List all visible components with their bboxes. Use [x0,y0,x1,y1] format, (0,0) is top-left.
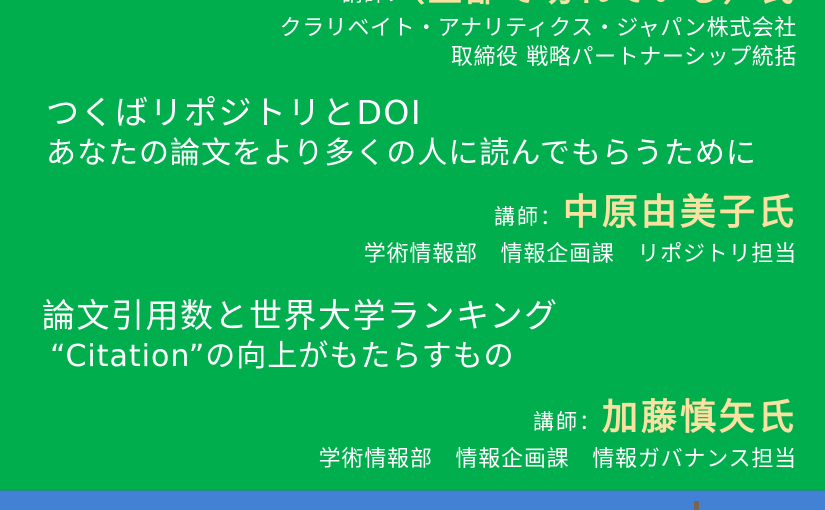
bottom-blue-band [0,491,825,510]
session-2-speaker-name: 加藤慎矢 [602,397,758,438]
poster-slide: 講師：（上部で切れている）氏 クラリベイト・アナリティクス・ジャパン株式会社 取… [0,0,825,510]
session-2-subtitle: “Citation”の向上がもたらすもの [0,336,825,378]
session-block-1: つくばリポジトリとDOI あなたの論文をより多くの人に読んでもらうために 講師：… [0,92,825,269]
top-affiliation-line-1: クラリベイト・アナリティクス・ジャパン株式会社 [37,14,797,43]
session-1-speaker-label: 講師： [494,205,563,229]
top-speaker-block: 講師：（上部で切れている）氏 クラリベイト・アナリティクス・ジャパン株式会社 取… [37,0,797,72]
session-1-affiliation: 学術情報部 情報企画課 リポジトリ担当 [0,241,825,269]
top-affiliation-line-2: 取締役 戦略パートナーシップ統括 [37,43,797,72]
session-2-speaker-suffix: 氏 [758,397,797,438]
session-block-2: 論文引用数と世界大学ランキング “Citation”の向上がもたらすもの 講師：… [0,295,825,474]
top-speaker-name: （上部で切れている） [408,0,760,10]
session-2-speaker-line: 講師：加藤慎矢氏 [0,396,825,446]
top-speaker-suffix: 氏 [760,0,797,10]
session-1-subtitle: あなたの論文をより多くの人に読んでもらうために [0,133,825,175]
session-2-speaker-label: 講師： [533,410,602,434]
session-1-speaker-line: 講師：中原由美子氏 [0,191,825,241]
top-speaker-label: 講師： [342,0,408,6]
session-1-title: つくばリポジトリとDOI [0,92,825,133]
session-2-affiliation: 学術情報部 情報企画課 情報ガバナンス担当 [0,446,825,474]
band-mark [694,501,699,510]
session-1-speaker-suffix: 氏 [758,192,797,233]
session-1-speaker-name: 中原由美子 [563,192,758,233]
top-speaker-line: 講師：（上部で切れている）氏 [37,0,797,14]
session-2-title: 論文引用数と世界大学ランキング [0,295,825,336]
